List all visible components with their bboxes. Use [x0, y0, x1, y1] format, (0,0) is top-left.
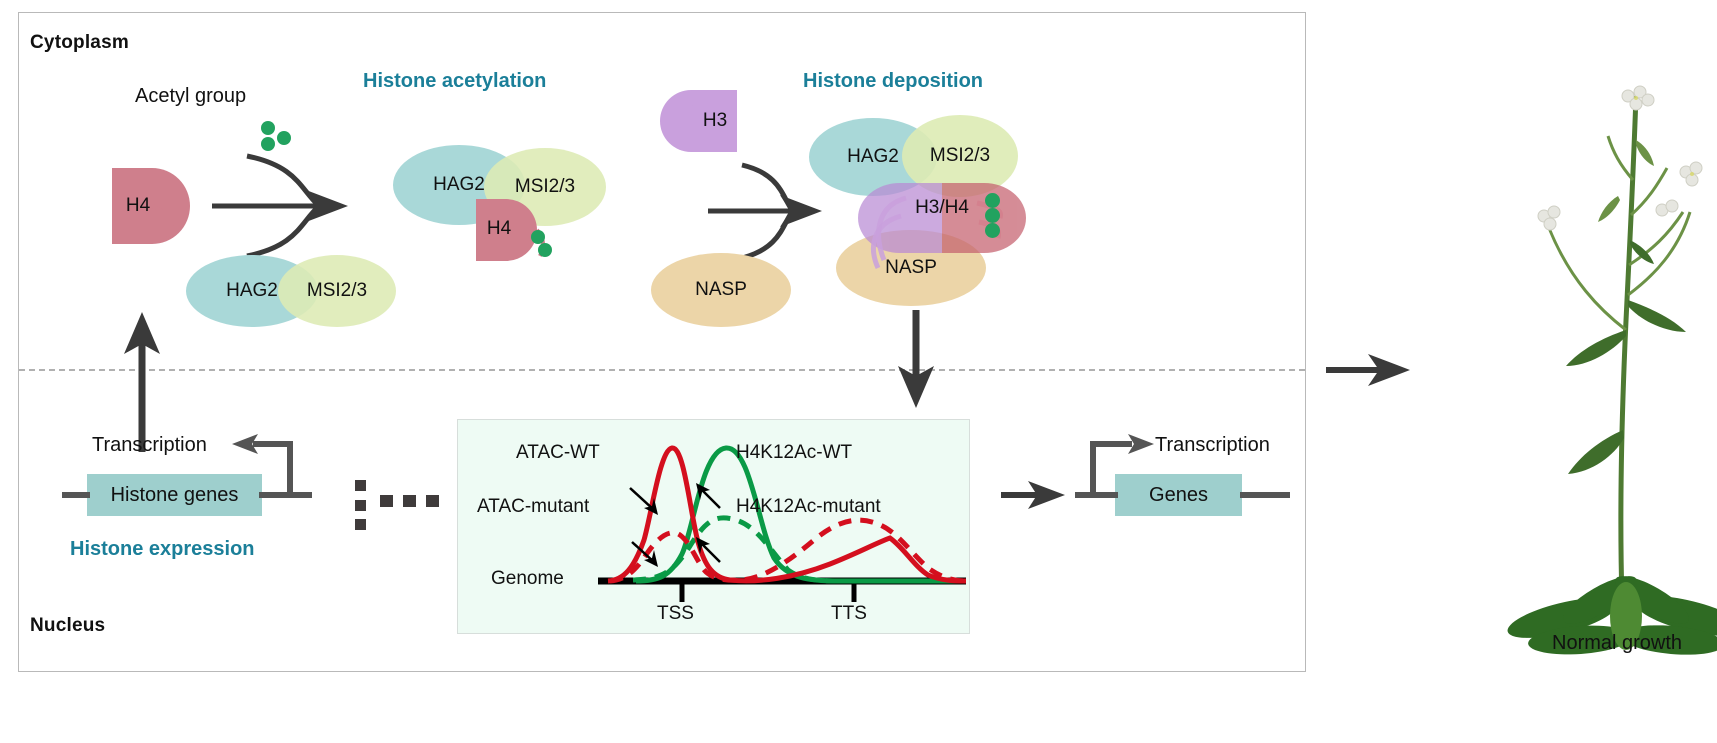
hag2-label: HAG2: [226, 280, 278, 302]
msi-label: MSI2/3: [930, 145, 990, 167]
hag2-label: HAG2: [847, 146, 899, 168]
arabidopsis-plant-illustration: [0, 0, 1717, 743]
nasp-label: NASP: [695, 279, 747, 301]
normal-growth-caption: Normal growth: [1552, 632, 1682, 655]
msi-label: MSI2/3: [307, 280, 367, 302]
diagram-canvas: Cytoplasm Nucleus Histone acetylation Hi…: [0, 0, 1717, 743]
nasp-label: NASP: [885, 257, 937, 279]
hag2-label: HAG2: [433, 174, 485, 196]
msi-label: MSI2/3: [515, 176, 575, 198]
